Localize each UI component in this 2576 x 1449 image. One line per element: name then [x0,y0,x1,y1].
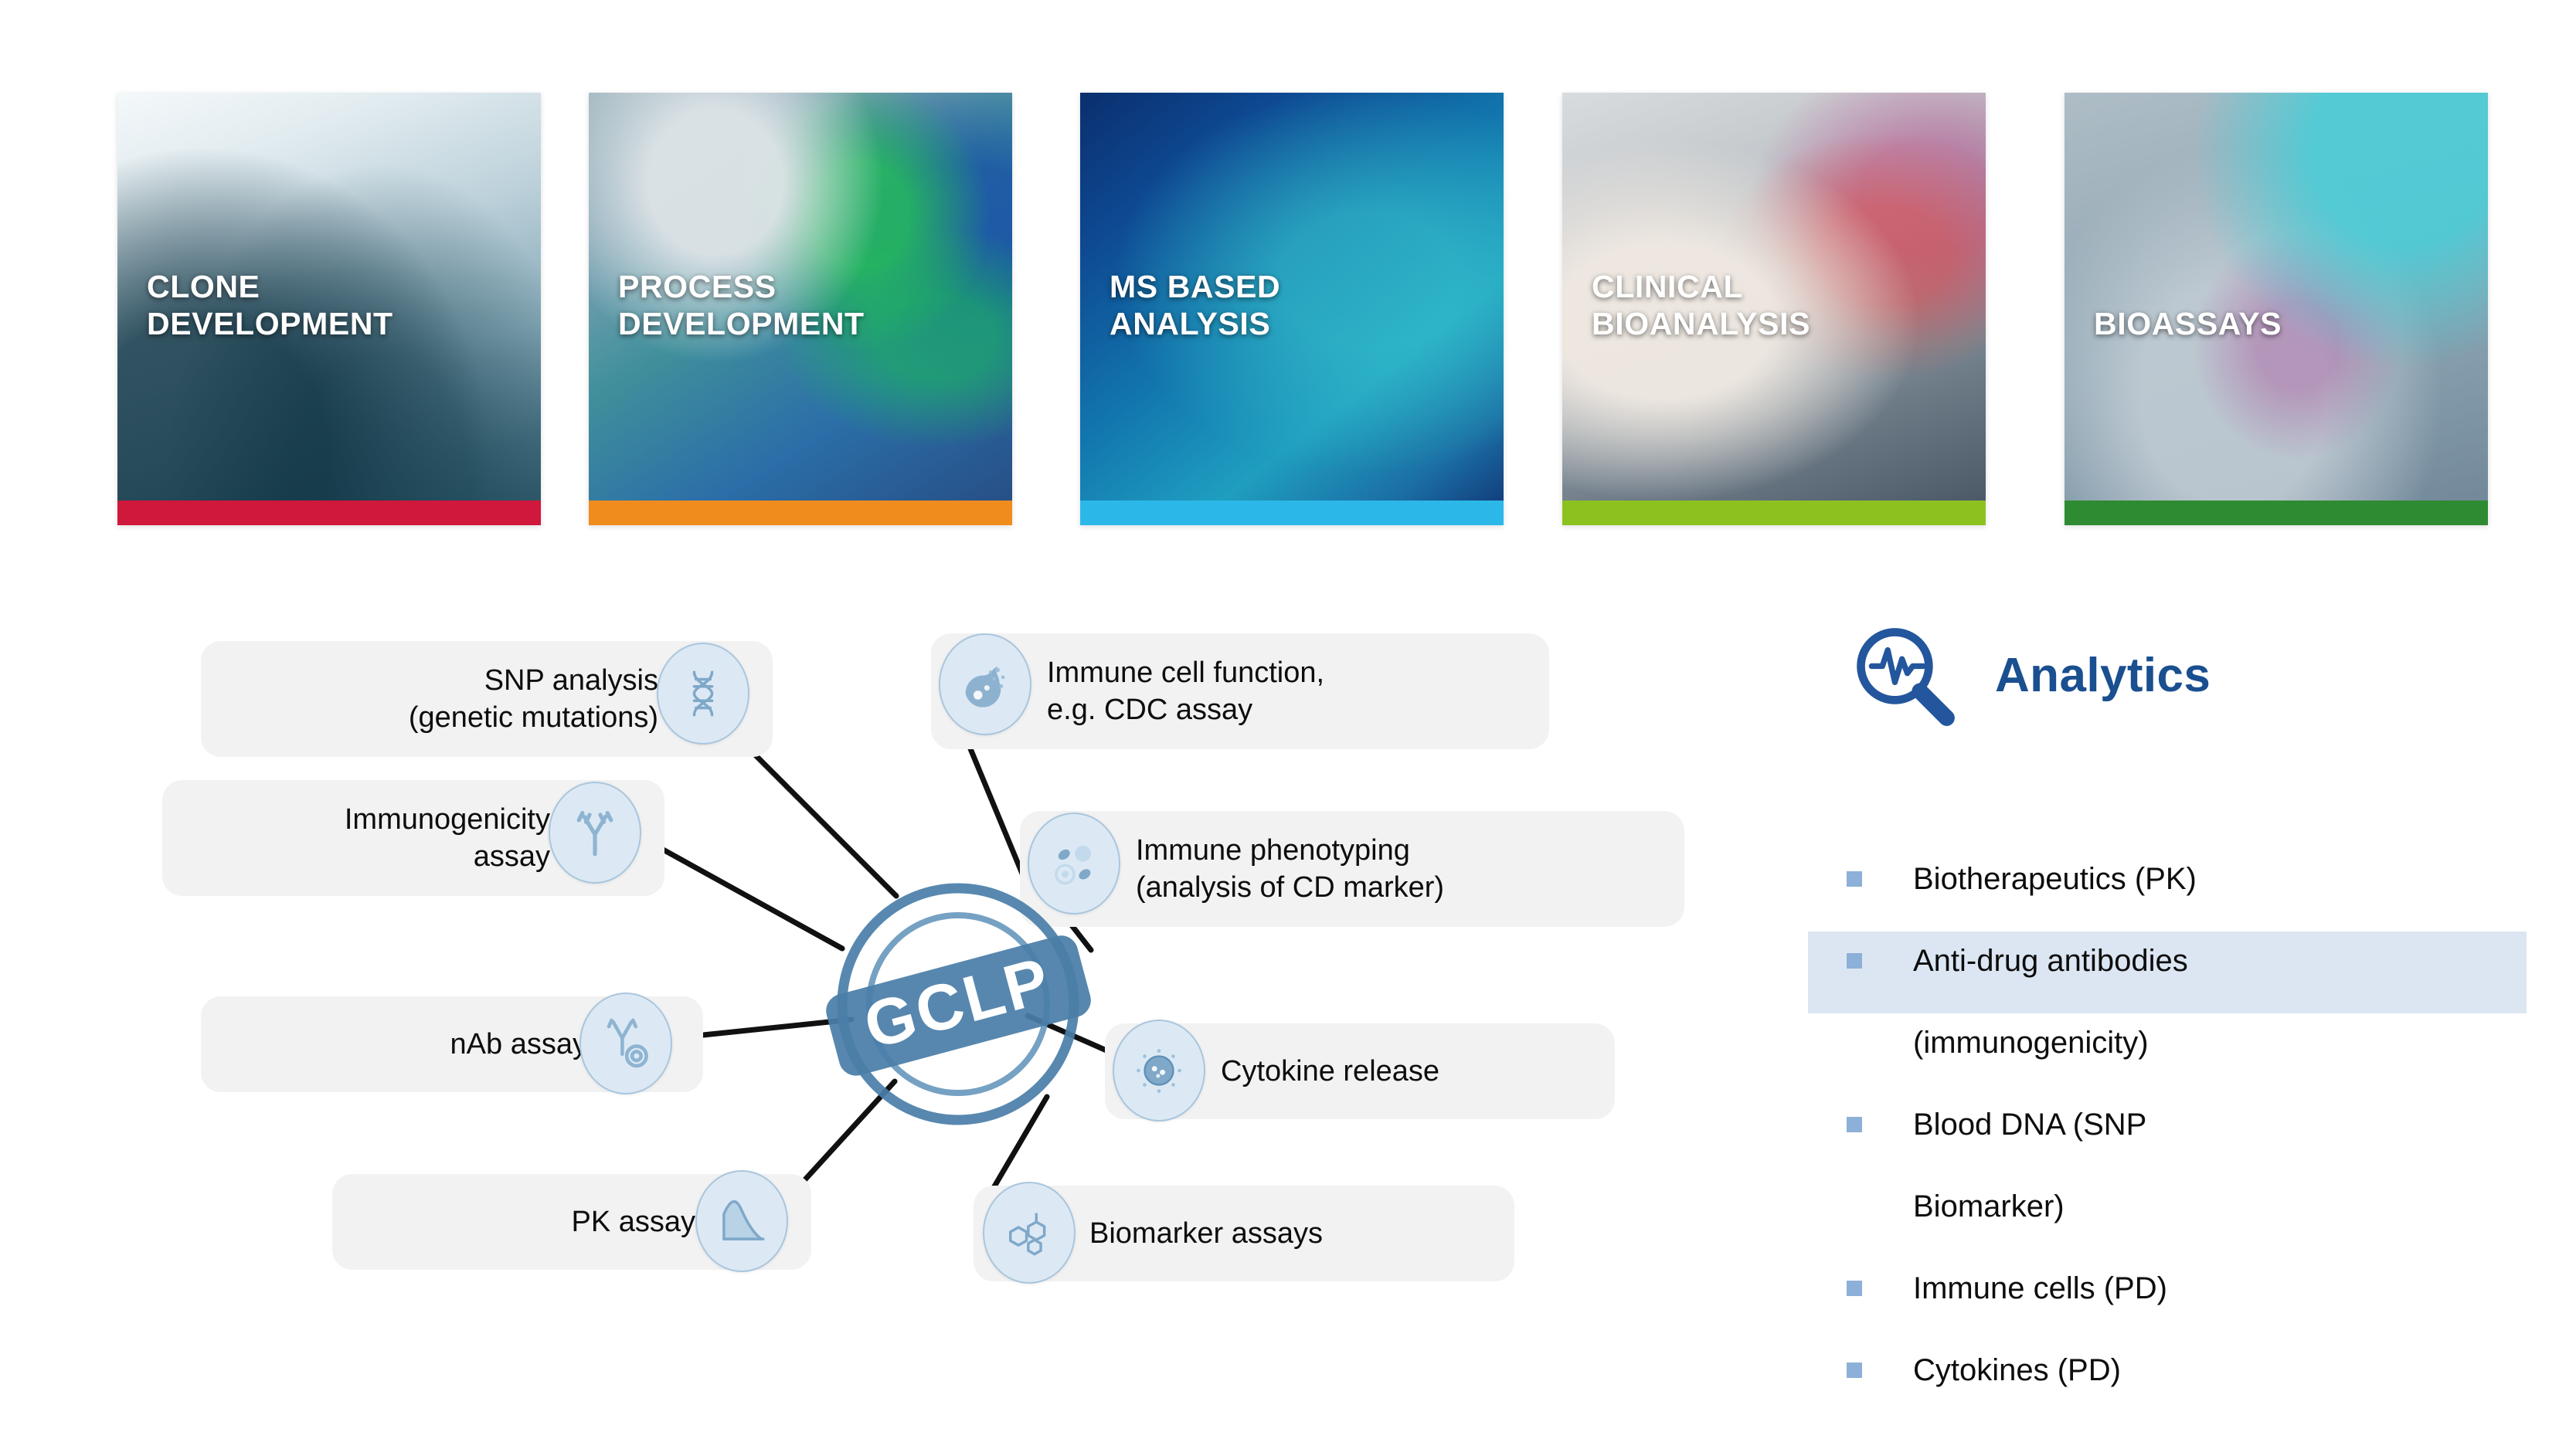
bullet-square-icon [1847,1117,1862,1132]
diagram-node-label: Immune phenotyping (analysis of CD marke… [1136,832,1444,907]
service-card-strip: CLONE DEVELOPMENT PROCESS DEVELOPMENT MS… [0,0,2576,556]
analytics-item-label: Cytokines (PD) [1913,1345,2121,1390]
analytics-list-item[interactable]: Immune cells (PD) [1808,1259,2527,1341]
analytics-list-item[interactable]: Cytokines (PD) [1808,1341,2527,1423]
card-accent-bar-clinical-bioanalysis [1562,501,1986,525]
card-accent-bar-process-development [589,501,1012,525]
analytics-item-label: Blood DNA (SNP [1913,1100,2146,1144]
card-title-ms-based-analysis: MS BASED ANALYSIS [1110,269,1280,343]
diagram-node-label: Immune cell function, e.g. CDC assay [1047,654,1324,729]
bullet-placeholder [1847,1199,1862,1214]
service-card-process-development[interactable]: PROCESS DEVELOPMENT [589,93,1012,525]
bullet-placeholder [1847,1035,1862,1050]
diagram-node-label: nAb assay [450,1026,587,1063]
analytics-title: Analytics [1995,648,2211,703]
analytics-item-label: Biotherapeutics (PK) [1913,854,2197,898]
antibody-icon [549,782,641,884]
gclp-hub-stamp: GCLP [796,850,1120,1159]
card-title-clinical-bioanalysis: CLINICAL BIOANALYSIS [1592,269,1810,343]
card-accent-bar-bioassays [2065,501,2488,525]
bullet-square-icon [1847,871,1862,887]
analytics-list-item[interactable]: Biotherapeutics (PK) [1808,850,2527,931]
analytics-list-item-highlighted[interactable]: Anti-drug antibodies [1808,931,2527,1013]
service-card-clone-development[interactable]: CLONE DEVELOPMENT [117,93,541,525]
dna-helix-icon [657,643,749,745]
bullet-square-icon [1847,953,1862,969]
card-title-clone-development: CLONE DEVELOPMENT [147,269,393,343]
analytics-item-label: Immune cells (PD) [1913,1264,2167,1308]
bullet-square-icon [1847,1281,1862,1296]
bullet-square-icon [1847,1362,1862,1378]
analytics-panel: Analytics Biotherapeutics (PK) Anti-drug… [1847,618,2527,1398]
analytics-bullet-list: Biotherapeutics (PK) Anti-drug antibodie… [1808,850,2527,1423]
card-title-process-development: PROCESS DEVELOPMENT [618,269,865,343]
analytics-header: Analytics [1847,618,2211,732]
card-title-bioassays: BIOASSAYS [2094,306,2282,343]
molecule-structure-icon [983,1182,1076,1284]
magnifier-pulse-icon [1847,618,1961,732]
cytokine-cell-icon [1113,1020,1205,1122]
neutralizing-antibody-icon [579,993,672,1094]
diagram-node-label: Immunogenicity assay [345,801,550,876]
analytics-list-item-continuation[interactable]: (immunogenicity) [1808,1013,2527,1095]
analytics-item-label: (immunogenicity) [1913,1018,2149,1062]
service-card-bioassays[interactable]: BIOASSAYS [2065,93,2488,525]
card-accent-bar-ms-based-analysis [1080,501,1504,525]
analytics-list-item[interactable]: Blood DNA (SNP [1808,1095,2527,1177]
analytics-item-label: Anti-drug antibodies [1913,936,2188,980]
card-photo-bioassays [2065,93,2488,501]
card-accent-bar-clone-development [117,501,541,525]
gclp-radial-diagram: GCLP SNP analysis (genetic mutations) Im… [116,587,1738,1406]
diagram-node-label: Biomarker assays [1089,1215,1323,1252]
immune-cell-lysis-icon [939,633,1031,735]
analytics-list-item-continuation[interactable]: Biomarker) [1808,1177,2527,1259]
diagram-node-label: SNP analysis (genetic mutations) [409,662,658,737]
service-card-ms-based-analysis[interactable]: MS BASED ANALYSIS [1080,93,1504,525]
service-card-clinical-bioanalysis[interactable]: CLINICAL BIOANALYSIS [1562,93,1986,525]
analytics-item-label: Biomarker) [1913,1182,2065,1226]
diagram-node-label: Cytokine release [1221,1053,1439,1090]
pk-curve-icon [695,1170,788,1272]
diagram-node-label: PK assay [571,1203,695,1240]
